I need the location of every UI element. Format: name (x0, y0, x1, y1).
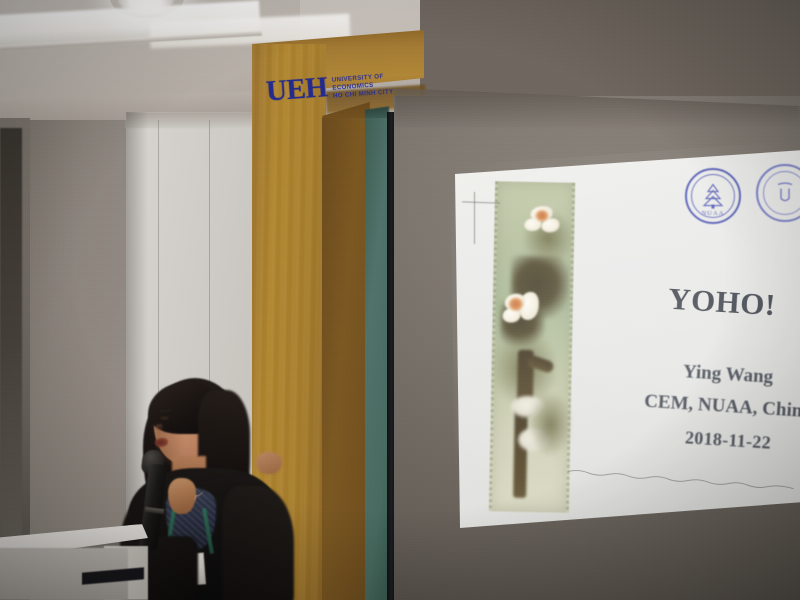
painting-foliage-mid (530, 394, 571, 455)
pine-tree-icon (700, 183, 726, 211)
slide-title: YOHO! (631, 278, 800, 325)
slide-brush-mark (474, 192, 475, 244)
slide-content: NUAA YOHO! Ying Wang CEM, NUAA, China 20… (400, 146, 800, 544)
presenter-eye (160, 416, 169, 420)
ueh-logo-subtext: UNIVERSITY OF ECONOMICS HO CHI MINH CITY (331, 69, 393, 101)
conference-room-photo: UEH UNIVERSITY OF ECONOMICS HO CHI MINH … (0, 0, 800, 600)
slide-affiliation: CEM, NUAA, China (628, 390, 800, 425)
projected-slide: NUAA YOHO! Ying Wang CEM, NUAA, China 20… (400, 146, 800, 544)
wall-recess-dark (0, 128, 22, 548)
ueh-logo-mark: UEH (265, 74, 328, 105)
wood-column-side (322, 118, 368, 600)
partner-seal-glyph-icon (773, 181, 797, 207)
presenter-hand-lower (256, 452, 282, 474)
partner-seal (756, 164, 800, 222)
presenter-shoulder-right (222, 486, 294, 600)
slide-author: Ying Wang (628, 358, 800, 393)
teal-glass-panel (365, 118, 388, 600)
nuaa-seal: NUAA (685, 168, 741, 224)
slide-wavy-divider (568, 467, 794, 491)
slide-brush-mark (462, 201, 500, 204)
nuaa-seal-acronym: NUAA (687, 210, 739, 217)
slide-date: 2018-11-22 (628, 424, 800, 458)
presenter-nose (155, 424, 163, 433)
presenter-hand-holding-mic (168, 478, 196, 514)
slide-artwork-scroll (489, 181, 575, 512)
